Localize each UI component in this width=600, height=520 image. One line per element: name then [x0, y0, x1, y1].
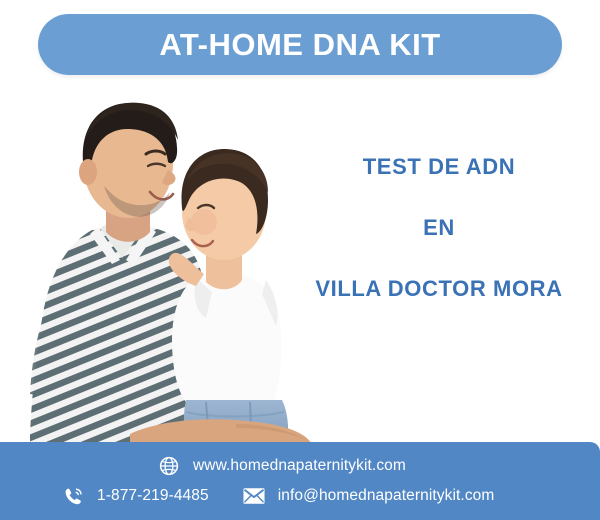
footer-contact-bar: www.homednapaternitykit.com 1-877-219-44…	[0, 442, 600, 520]
headline-line-2: EN	[296, 217, 582, 239]
phone-icon	[62, 485, 84, 507]
headline-line-1: TEST DE ADN	[296, 156, 582, 178]
header-banner: AT-HOME DNA KIT	[38, 14, 562, 75]
email-item[interactable]: info@homednapaternitykit.com	[243, 485, 495, 507]
headline-line-3: VILLA DOCTOR MORA	[296, 278, 582, 300]
headline-block: TEST DE ADN EN VILLA DOCTOR MORA	[296, 156, 582, 300]
website-item[interactable]: www.homednapaternitykit.com	[158, 455, 406, 477]
phone-item[interactable]: 1-877-219-4485	[62, 485, 209, 507]
phone-label: 1-877-219-4485	[97, 488, 209, 504]
footer-row-phone-email: 1-877-219-4485 info@homednapaternitykit.…	[62, 485, 494, 507]
email-label: info@homednapaternitykit.com	[278, 488, 495, 504]
envelope-icon	[243, 485, 265, 507]
footer-row-website: www.homednapaternitykit.com	[158, 455, 406, 477]
banner-title: AT-HOME DNA KIT	[159, 29, 440, 60]
poster-canvas: AT-HOME DNA KIT	[0, 0, 600, 520]
family-photo	[0, 82, 320, 450]
website-label: www.homednapaternitykit.com	[193, 458, 406, 474]
globe-icon	[158, 455, 180, 477]
